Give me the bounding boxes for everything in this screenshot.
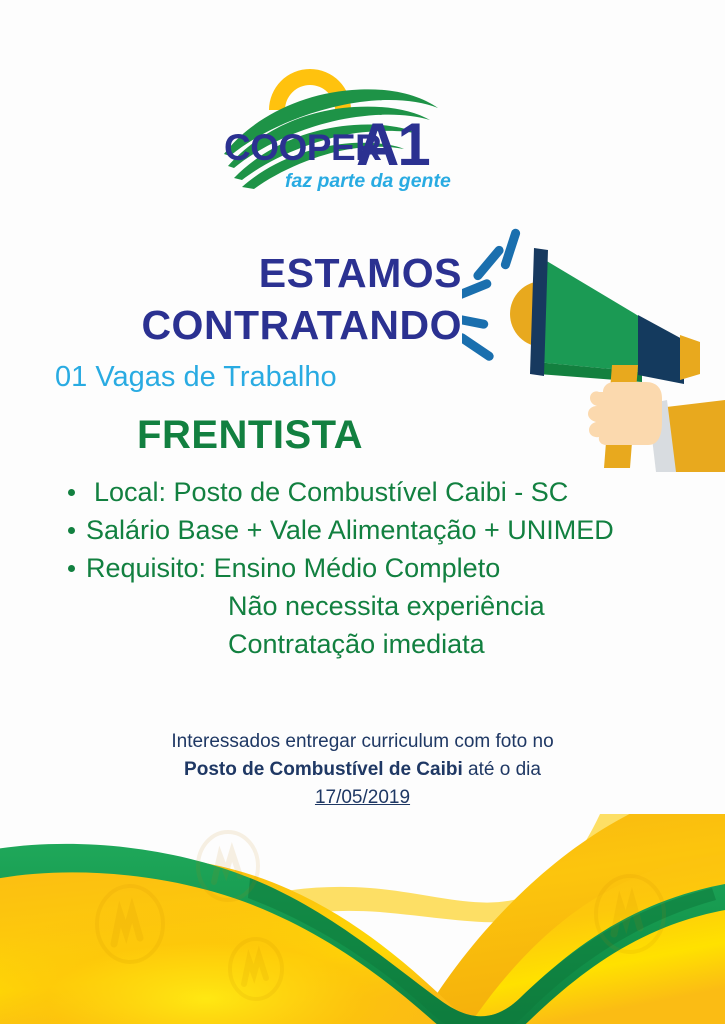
poster-canvas: COOPER A1 faz parte da gente — [0, 0, 725, 1024]
bullet-dot-icon — [68, 489, 75, 496]
bottom-wave-decoration — [0, 814, 725, 1024]
list-item-label: Salário Base + Vale Alimentação + UNIMED — [86, 515, 614, 545]
megaphone-illustration — [462, 222, 725, 472]
logo-tagline: faz parte da gente — [285, 170, 451, 192]
megaphone-tab — [680, 335, 700, 380]
footer-line-2: Posto de Combustível de Caibi até o dia — [0, 756, 725, 784]
deadline-date: 17/05/2019 — [315, 787, 410, 808]
continuation-label: Não necessita experiência — [228, 591, 545, 621]
footer-line-1: Interessados entregar curriculum com fot… — [0, 728, 725, 756]
footer-line-2-rest: até o dia — [463, 759, 541, 780]
megaphone-body — [638, 315, 684, 384]
job-title: FRENTISTA — [0, 413, 500, 458]
footer-location: Posto de Combustível de Caibi — [184, 759, 463, 780]
megaphone-cone — [536, 257, 642, 372]
vacancies-count-label: 01 Vagas de Trabalho — [55, 360, 337, 395]
cooper-a1-logo: COOPER A1 faz parte da gente — [222, 32, 472, 192]
list-item-label: Requisito: Ensino Médio Completo — [86, 553, 500, 583]
list-item-continuation: Contratação imediata — [60, 625, 700, 663]
logo-text-a1: A1 — [356, 111, 429, 178]
headline-line-1: ESTAMOS — [0, 253, 462, 295]
footer-instructions: Interessados entregar curriculum com fot… — [0, 728, 725, 812]
list-item: Salário Base + Vale Alimentação + UNIMED — [60, 511, 700, 549]
list-item-continuation: Não necessita experiência — [60, 587, 700, 625]
hand — [588, 382, 662, 445]
continuation-label: Contratação imediata — [228, 629, 485, 659]
list-item: Requisito: Ensino Médio Completo — [60, 549, 700, 587]
list-item: Local: Posto de Combustível Caibi - SC — [60, 473, 700, 511]
headline-line-2: CONTRATANDO — [0, 305, 462, 347]
bullet-dot-icon — [68, 527, 75, 534]
sound-burst-icon — [462, 228, 521, 363]
job-details-list: Local: Posto de Combustível Caibi - SC S… — [60, 473, 700, 663]
footer-line-3: 17/05/2019 — [0, 784, 725, 812]
bullet-dot-icon — [68, 565, 75, 572]
list-item-label: Local: Posto de Combustível Caibi - SC — [94, 477, 568, 507]
